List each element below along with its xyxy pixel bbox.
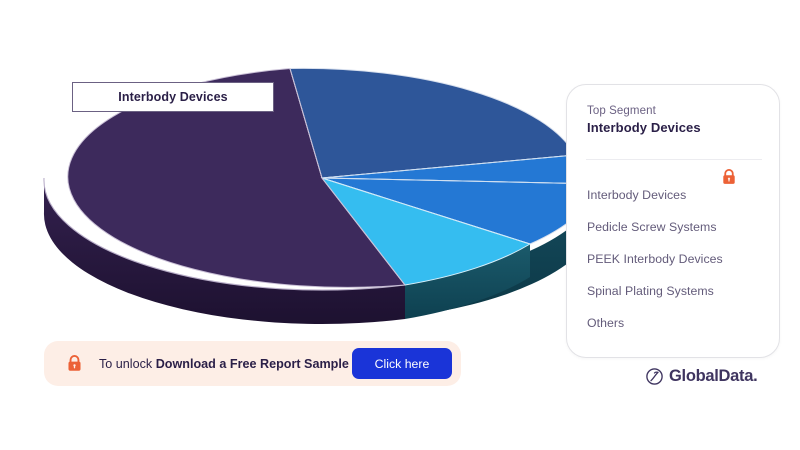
pie-callout-label: Interbody Devices: [72, 82, 274, 112]
segment-legend-list: Interbody Devices Pedicle Screw Systems …: [587, 179, 773, 339]
pie-callout-text: Interbody Devices: [118, 90, 227, 104]
card-divider: [586, 159, 762, 160]
legend-item-spinal-plating-systems: Spinal Plating Systems: [587, 275, 773, 307]
top-segment-label: Top Segment: [587, 105, 656, 117]
globaldata-logo-text: GlobalData.: [669, 367, 757, 386]
globaldata-swirl-icon: [645, 367, 664, 386]
legend-item-others: Others: [587, 307, 773, 339]
legend-item-pedicle-screw-systems: Pedicle Screw Systems: [587, 211, 773, 243]
unlock-banner-text: To unlock Download a Free Report Sample: [99, 357, 349, 371]
chart-canvas: Interbody Devices Top Segment Interbody …: [0, 0, 800, 450]
globaldata-logo: GlobalData.: [645, 365, 757, 387]
unlock-banner: To unlock Download a Free Report Sample …: [44, 341, 461, 386]
top-segment-value: Interbody Devices: [587, 120, 701, 135]
lock-icon: [65, 354, 84, 373]
click-here-button[interactable]: Click here: [352, 348, 452, 379]
legend-item-interbody-devices: Interbody Devices: [587, 179, 773, 211]
legend-item-peek-interbody-devices: PEEK Interbody Devices: [587, 243, 773, 275]
unlock-bold-text: Download a Free Report Sample: [156, 357, 349, 371]
unlock-lead-text: To unlock: [99, 357, 156, 371]
top-segment-card: Top Segment Interbody Devices Interbody …: [566, 84, 780, 358]
